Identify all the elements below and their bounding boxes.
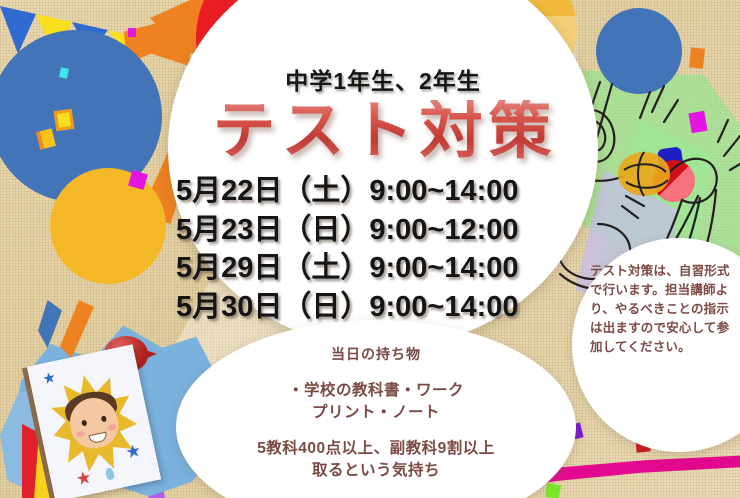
yellow-circle-left: [50, 168, 166, 284]
schedule-row: 5月30日（日）9:00~14:00: [176, 288, 596, 327]
flyer-canvas: 中学1年生、2年生 テスト対策 5月22日（土）9:00~14:00 5月23日…: [0, 0, 740, 498]
schedule-list: 5月22日（土）9:00~14:00 5月23日（日）9:00~12:00 5月…: [176, 172, 596, 326]
confetti-orange-1: [689, 47, 705, 68]
grade-line: 中学1年生、2年生: [168, 62, 598, 96]
confetti-yellow-1: [54, 109, 75, 131]
card-droplet: [105, 467, 115, 480]
confetti-magenta-3: [128, 28, 136, 37]
supplies-item-2-line-2: 取るという気持ち: [180, 460, 572, 482]
card-star-red: [76, 470, 91, 485]
schedule-row: 5月23日（日）9:00~12:00: [176, 211, 596, 250]
schedule-row: 5月22日（土）9:00~14:00: [176, 172, 596, 211]
notice-text: テスト対策は、自習形式で行います。担当講師より、やるべきことの指示は出ますので安…: [590, 262, 736, 357]
confetti-green-1: [545, 483, 561, 498]
card-star-blue-1: [43, 371, 56, 384]
page-title: テスト対策: [150, 100, 620, 163]
supplies-heading: 当日の持ち物: [180, 344, 572, 364]
confetti-magenta-2: [688, 111, 707, 133]
supplies-item-2-line-1: 5教科400点以上、副教科9割以上: [180, 438, 572, 460]
supplies-block: 当日の持ち物 ・学校の教科書・ワーク プリント・ノート 5教科400点以上、副教…: [180, 344, 572, 482]
supplies-item-1-line-1: ・学校の教科書・ワーク: [180, 380, 572, 402]
blue-triangle-decor: [38, 300, 62, 348]
orange-triangle-decor: [60, 300, 94, 358]
schedule-row: 5月29日（土）9:00~14:00: [176, 249, 596, 288]
supplies-item-1-line-2: プリント・ノート: [180, 402, 572, 424]
